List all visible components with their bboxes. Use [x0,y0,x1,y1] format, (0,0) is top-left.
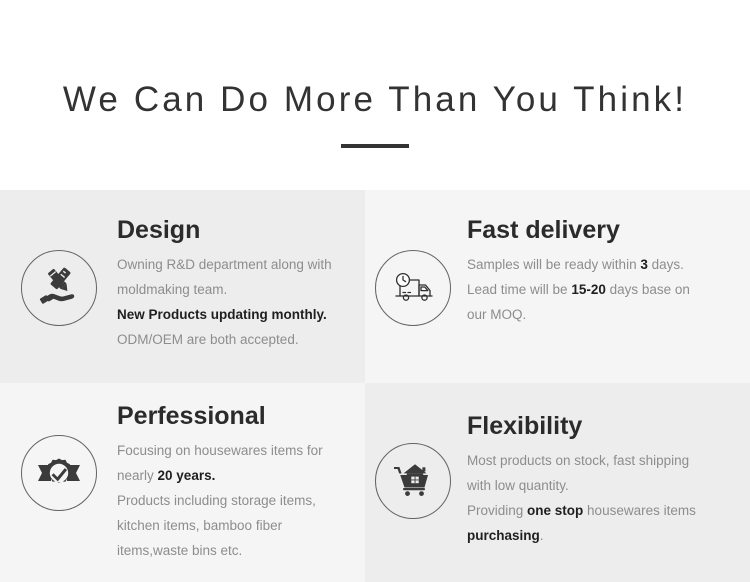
delivery-truck-clock-icon [375,250,451,326]
feature-grid: Design Owning R&D department along with … [0,190,750,582]
line-part-bold: purchasing [467,528,540,543]
card-line: ODM/OEM are both accepted. [117,327,332,352]
card-line: purchasing. [467,523,696,548]
card-heading: Perfessional [117,401,323,431]
line-part-bold: 15-20 [571,282,606,297]
card-line: Samples will be ready within 3 days. [467,252,690,277]
header-section: We Can Do More Than You Think! [0,0,750,190]
line-part-bold: one stop [527,503,583,518]
feature-card-professional: Perfessional Focusing on housewares item… [0,383,365,582]
line-part: Providing [467,503,527,518]
line-part: nearly [117,468,158,483]
card-line: Owning R&D department along with [117,252,332,277]
card-heading: Fast delivery [467,215,690,245]
line-part-bold: 20 years. [158,468,216,483]
quality-badge-check-icon [21,435,97,511]
hand-holding-pencil-ruler-icon [21,250,97,326]
line-part: Samples will be ready within [467,257,640,272]
card-line: kitchen items, bamboo fiber [117,513,323,538]
card-line: moldmaking team. [117,277,332,302]
card-line: our MOQ. [467,302,690,327]
line-part-bold: 3 [640,257,648,272]
card-heading: Flexibility [467,411,696,441]
feature-card-flexibility: Flexibility Most products on stock, fast… [365,383,750,582]
card-line: nearly 20 years. [117,463,323,488]
line-part: Lead time will be [467,282,571,297]
card-line: Products including storage items, [117,488,323,513]
card-text-delivery: Fast delivery Samples will be ready with… [467,215,690,327]
title-divider [341,144,409,148]
card-line: Providing one stop housewares items [467,498,696,523]
line-part: days base on [606,282,690,297]
line-part: days. [648,257,684,272]
card-text-design: Design Owning R&D department along with … [117,215,332,352]
feature-card-delivery: Fast delivery Samples will be ready with… [365,190,750,383]
shopping-cart-house-icon [375,443,451,519]
card-text-flexibility: Flexibility Most products on stock, fast… [467,411,696,548]
card-line: Lead time will be 15-20 days base on [467,277,690,302]
card-line: with low quantity. [467,473,696,498]
card-line-emphasis: New Products updating monthly. [117,302,332,327]
line-part: . [540,528,544,543]
card-text-professional: Perfessional Focusing on housewares item… [117,401,323,563]
card-line: Most products on stock, fast shipping [467,448,696,473]
card-line: items,waste bins etc. [117,538,323,563]
feature-card-design: Design Owning R&D department along with … [0,190,365,383]
card-line: Focusing on housewares items for [117,438,323,463]
card-heading: Design [117,215,332,245]
promo-banner: We Can Do More Than You Think! [0,0,750,582]
line-part: housewares items [583,503,696,518]
page-title: We Can Do More Than You Think! [0,78,750,122]
